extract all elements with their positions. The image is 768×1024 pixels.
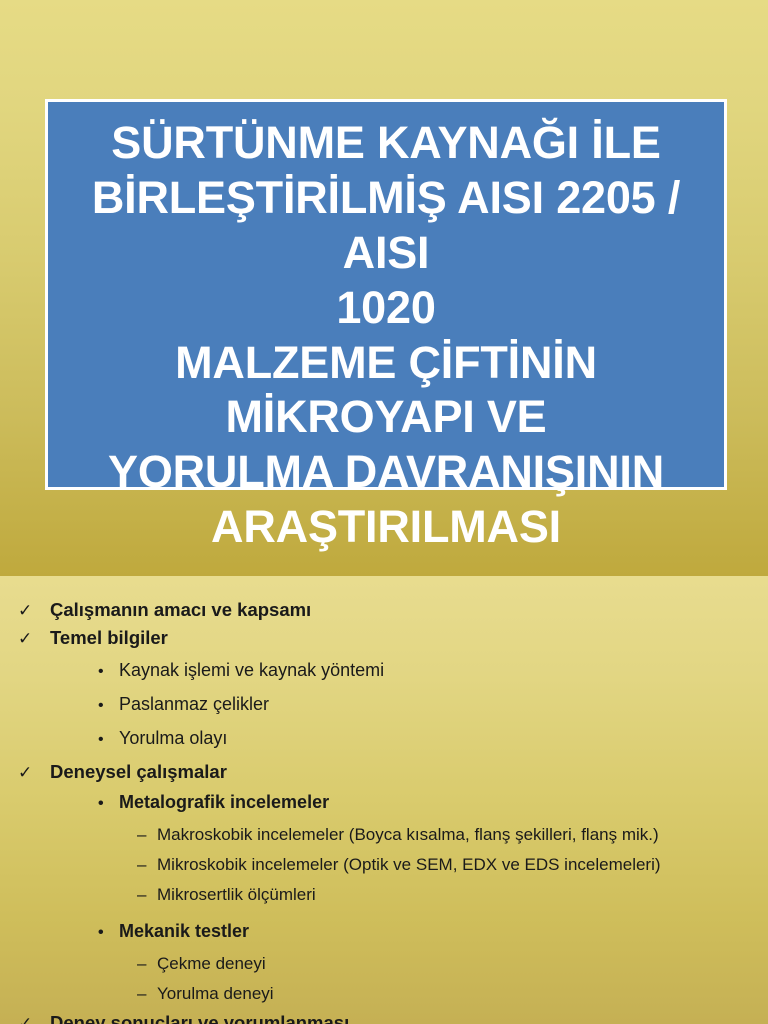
check-icon: ✓ (18, 759, 50, 786)
list-item-label: Mekanik testler (119, 915, 249, 947)
list-item: – Mikroskobik incelemeler (Optik ve SEM,… (0, 850, 768, 880)
presentation-slide: SÜRTÜNME KAYNAĞI İLE BİRLEŞTİRİLMİŞ AISI… (0, 0, 768, 1024)
list-item-label: Mikroskobik incelemeler (Optik ve SEM, E… (157, 850, 661, 880)
bullet-icon: • (98, 724, 119, 756)
list-item: ✓ Temel bilgiler (0, 624, 768, 652)
list-item: – Makroskobik incelemeler (Boyca kısalma… (0, 820, 768, 850)
dash-icon: – (137, 949, 157, 979)
list-item: – Mikrosertlik ölçümleri (0, 880, 768, 910)
list-item: – Çekme deneyi (0, 949, 768, 979)
bullet-icon: • (98, 788, 119, 820)
list-item: • Paslanmaz çelikler (0, 688, 768, 722)
list-item-label: Deneysel çalışmalar (50, 758, 227, 785)
list-item-label: Mikrosertlik ölçümleri (157, 880, 316, 910)
list-item: ✓ Deney sonuçları ve yorumlanması (0, 1009, 768, 1024)
list-item: • Metalografik incelemeler (0, 786, 768, 820)
bullet-icon: • (98, 690, 119, 722)
check-icon: ✓ (18, 625, 50, 652)
title-line-2: BİRLEŞTİRİLMİŞ AISI 2205 / AISI (58, 171, 714, 281)
title-line-3: 1020 (58, 281, 714, 336)
bullet-icon: • (98, 656, 119, 688)
list-item: • Yorulma olayı (0, 722, 768, 756)
list-item: • Kaynak işlemi ve kaynak yöntemi (0, 654, 768, 688)
list-item: ✓ Deneysel çalışmalar (0, 758, 768, 786)
list-item: • Mekanik testler (0, 915, 768, 949)
list-item-label: Paslanmaz çelikler (119, 688, 269, 720)
list-item-label: Yorulma deneyi (157, 979, 274, 1009)
list-item-label: Yorulma olayı (119, 722, 227, 754)
dash-icon: – (137, 820, 157, 850)
bullet-icon: • (98, 917, 119, 949)
list-item-label: Metalografik incelemeler (119, 786, 329, 818)
list-item-label: Çekme deneyi (157, 949, 266, 979)
slide-title: SÜRTÜNME KAYNAĞI İLE BİRLEŞTİRİLMİŞ AISI… (48, 116, 724, 555)
list-item: ✓ Çalışmanın amacı ve kapsamı (0, 596, 768, 624)
title-box: SÜRTÜNME KAYNAĞI İLE BİRLEŞTİRİLMİŞ AISI… (45, 99, 727, 490)
title-line-1: SÜRTÜNME KAYNAĞI İLE (58, 116, 714, 171)
list-item-label: Kaynak işlemi ve kaynak yöntemi (119, 654, 384, 686)
list-item-label: Çalışmanın amacı ve kapsamı (50, 596, 311, 623)
list-item-label: Temel bilgiler (50, 624, 168, 651)
title-line-5: YORULMA DAVRANIŞININ (58, 445, 714, 500)
list-item: – Yorulma deneyi (0, 979, 768, 1009)
dash-icon: – (137, 850, 157, 880)
list-item-label: Deney sonuçları ve yorumlanması (50, 1009, 349, 1024)
check-icon: ✓ (18, 597, 50, 624)
check-icon: ✓ (18, 1010, 50, 1024)
list-item-label: Makroskobik incelemeler (Boyca kısalma, … (157, 820, 659, 850)
outline-list: ✓ Çalışmanın amacı ve kapsamı ✓ Temel bi… (0, 596, 768, 1024)
title-line-4: MALZEME ÇİFTİNİN MİKROYAPI VE (58, 336, 714, 446)
dash-icon: – (137, 880, 157, 910)
dash-icon: – (137, 979, 157, 1009)
title-line-6: ARAŞTIRILMASI (58, 500, 714, 555)
